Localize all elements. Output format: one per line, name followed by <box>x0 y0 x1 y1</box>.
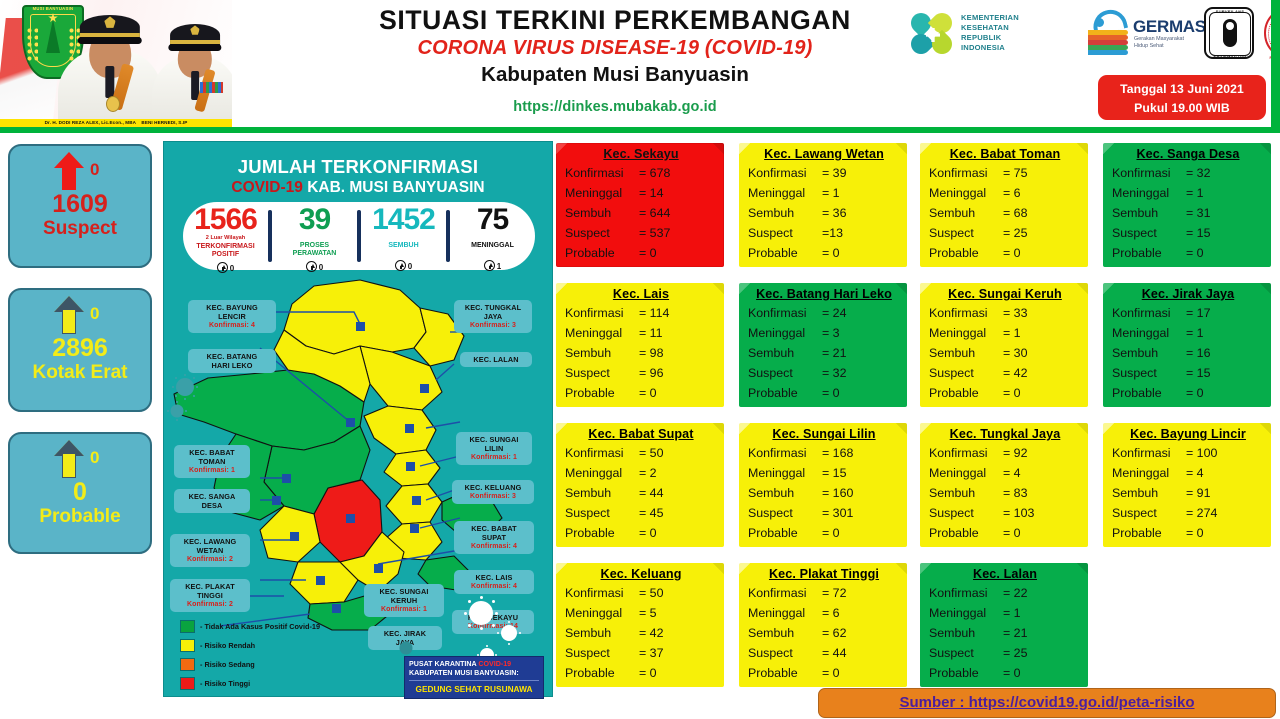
suspect-label: Suspect <box>10 218 150 240</box>
district-stat-row: Konfirmasi= 50 <box>565 443 717 463</box>
stat-value-sembuh: = 98 <box>639 343 663 363</box>
stat-label-konfirmasi: Konfirmasi <box>1112 443 1186 463</box>
stat-value-meninggal: = 3 <box>822 323 840 343</box>
summary-stats-strip: 1566 2 Luar Wilayah TERKONFIRMASI POSITI… <box>183 202 535 270</box>
stat-value-meninggal: = 5 <box>639 603 657 623</box>
region-sungai-lilin[interactable] <box>364 406 436 454</box>
surveilans-top-text: SURVEILANS <box>1204 9 1256 14</box>
district-stat-row: Sembuh= 21 <box>929 623 1081 643</box>
district-stat-row: Meninggal= 1 <box>1112 183 1264 203</box>
stat-value-meninggal: = 1 <box>1003 323 1021 343</box>
district-stat-row: Probable= 0 <box>748 243 900 263</box>
stat-value-meninggal: = 4 <box>1186 463 1204 483</box>
date-line-1: Tanggal 13 Juni 2021 <box>1098 80 1266 99</box>
stat-label-suspect: Suspect <box>1112 503 1186 523</box>
stat-label-suspect: Suspect <box>748 363 822 383</box>
district-stat-row: Probable= 0 <box>1112 523 1264 543</box>
stat-value-suspect: = 96 <box>639 363 663 383</box>
stat-value-konfirmasi: = 168 <box>822 443 853 463</box>
map-label-sungai-lilin[interactable]: KEC. SUNGAILILIN Konfirmasi: 1 <box>456 432 532 465</box>
stat-value-sembuh: = 16 <box>1186 343 1210 363</box>
stat-label-sembuh: Sembuh <box>565 483 639 503</box>
probable-delta: 0 <box>90 448 99 468</box>
district-stat-row: Probable= 0 <box>929 243 1081 263</box>
district-stat-row: Konfirmasi= 92 <box>929 443 1081 463</box>
virus-icon <box>166 400 188 422</box>
map-label-tungkal-jaya[interactable]: KEC. TUNGKALJAYA Konfirmasi: 3 <box>454 300 532 333</box>
stat-label-probable: Probable <box>1112 383 1186 403</box>
legend-item: - Risiko Rendah <box>180 638 390 653</box>
terkonfirmasi-label-2: POSITIF <box>183 251 268 259</box>
stat-label-suspect: Suspect <box>929 363 1003 383</box>
map-label-sanga-desa[interactable]: KEC. SANGADESA <box>174 489 250 513</box>
stat-label-meninggal: Meninggal <box>748 603 822 623</box>
sembuh-label: SEMBUH <box>361 242 446 250</box>
stat-value-meninggal: = 11 <box>639 323 663 343</box>
map-label-plakat-tinggi[interactable]: KEC. PLAKATTINGGI Konfirmasi: 2 <box>170 579 250 612</box>
district-stat-row: Suspect= 44 <box>748 643 900 663</box>
district-stat-row: Sembuh= 16 <box>1112 343 1264 363</box>
district-stat-row: Probable= 0 <box>565 523 717 543</box>
officials-photo: MUSI BANYUASIN <box>0 0 232 133</box>
stat-label-sembuh: Sembuh <box>748 623 822 643</box>
germas-tagline-2: Hidup Sehat <box>1134 43 1184 50</box>
district-stat-row: Konfirmasi= 75 <box>929 163 1081 183</box>
district-card-kec-tungkal-jaya[interactable]: Kec. Tungkal JayaKonfirmasi= 92Meninggal… <box>920 423 1088 547</box>
stat-value-konfirmasi: = 17 <box>1186 303 1210 323</box>
stat-card-suspect: 0 1609 Suspect <box>8 144 152 268</box>
stat-value-sembuh: = 83 <box>1003 483 1027 503</box>
district-card-kec-sekayu[interactable]: Kec. SekayuKonfirmasi= 678Meninggal= 14S… <box>556 143 724 267</box>
stat-label-meninggal: Meninggal <box>1112 183 1186 203</box>
stat-label-sembuh: Sembuh <box>748 343 822 363</box>
stat-value-suspect: = 274 <box>1186 503 1217 523</box>
stat-label-suspect: Suspect <box>748 223 822 243</box>
stat-label-konfirmasi: Konfirmasi <box>565 443 639 463</box>
stat-label-suspect: Suspect <box>929 643 1003 663</box>
district-stat-row: Probable= 0 <box>1112 383 1264 403</box>
infographic-root: MUSI BANYUASIN <box>0 0 1280 719</box>
stat-value-suspect: = 15 <box>1186 223 1210 243</box>
stat-value-suspect: = 25 <box>1003 643 1027 663</box>
district-card-kec-plakat-tinggi[interactable]: Kec. Plakat TinggiKonfirmasi= 72Meningga… <box>739 563 907 687</box>
stat-label-konfirmasi: Konfirmasi <box>929 163 1003 183</box>
stat-label-meninggal: Meninggal <box>748 323 822 343</box>
meninggal-label: MENINGGAL <box>450 242 535 250</box>
arrow-up-icon <box>54 440 84 478</box>
stat-value-meninggal: = 1 <box>1003 603 1021 623</box>
stat-value-probable: = 0 <box>639 383 657 403</box>
stat-value-konfirmasi: = 39 <box>822 163 846 183</box>
stat-label-suspect: Suspect <box>748 643 822 663</box>
stat-label-probable: Probable <box>1112 523 1186 543</box>
map-panel-title: JUMLAH TERKONFIRMASI COVID-19 KAB. MUSI … <box>164 156 552 197</box>
district-stat-row: Sembuh= 21 <box>748 343 900 363</box>
stat-label-suspect: Suspect <box>565 503 639 523</box>
stat-value-sembuh: = 62 <box>822 623 846 643</box>
district-stat-row: Konfirmasi= 22 <box>929 583 1081 603</box>
stat-label-probable: Probable <box>748 523 822 543</box>
district-stat-row: Sembuh= 30 <box>929 343 1081 363</box>
official1-name: Dr. H. DODI REZA ALEX, Lic.Econ., MBA <box>45 120 136 125</box>
stat-label-probable: Probable <box>565 523 639 543</box>
perawatan-label-2: PERAWATAN <box>272 250 357 258</box>
stat-value-suspect: =13 <box>822 223 843 243</box>
stat-label-meninggal: Meninggal <box>565 323 639 343</box>
stat-label-probable: Probable <box>929 383 1003 403</box>
stat-label-probable: Probable <box>929 523 1003 543</box>
map-title-line-1: JUMLAH TERKONFIRMASI <box>164 156 552 178</box>
stat-label-suspect: Suspect <box>1112 223 1186 243</box>
legend-item: - Risiko Sedang <box>180 657 390 672</box>
district-stat-row: Probable= 0 <box>929 383 1081 403</box>
stat-label-probable: Probable <box>565 383 639 403</box>
title-line-1: SITUASI TERKINI PERKEMBANGAN <box>300 6 930 35</box>
district-card-kec-lais[interactable]: Kec. LaisKonfirmasi= 114Meninggal= 11Sem… <box>556 283 724 407</box>
stat-proses-perawatan: 39 PROSES PERAWATAN 0 <box>272 202 357 270</box>
stat-label-konfirmasi: Konfirmasi <box>565 163 639 183</box>
stat-label-konfirmasi: Konfirmasi <box>565 583 639 603</box>
map-label-batang-hari-leko[interactable]: KEC. BATANGHARI LEKO <box>188 349 276 373</box>
district-stat-row: Sembuh= 160 <box>748 483 900 503</box>
terkonfirmasi-number: 1566 <box>183 205 268 235</box>
stat-label-suspect: Suspect <box>565 363 639 383</box>
stat-value-konfirmasi: = 32 <box>1186 163 1210 183</box>
stat-label-sembuh: Sembuh <box>1112 483 1186 503</box>
title-line-3: Kabupaten Musi Banyuasin <box>300 63 930 87</box>
karantina-line1-a: PUSAT KARANTINA <box>409 660 478 668</box>
district-stat-row: Suspect=13 <box>748 223 900 243</box>
district-stat-row: Suspect= 537 <box>565 223 717 243</box>
map-label-babat-supat[interactable]: KEC. BABATSUPAT Konfirmasi: 4 <box>454 521 534 554</box>
stat-label-sembuh: Sembuh <box>1112 203 1186 223</box>
district-stat-row: Konfirmasi= 24 <box>748 303 900 323</box>
stat-value-suspect: = 537 <box>639 223 670 243</box>
stat-label-sembuh: Sembuh <box>565 623 639 643</box>
terkonfirmasi-increment: 0 <box>183 262 268 273</box>
stat-label-sembuh: Sembuh <box>565 343 639 363</box>
map-panel: JUMLAH TERKONFIRMASI COVID-19 KAB. MUSI … <box>163 141 553 697</box>
stat-value-konfirmasi: = 678 <box>639 163 670 183</box>
logo-strip: KEMENTERIAN KESEHATAN REPUBLIK INDONESIA… <box>908 4 1272 66</box>
stat-label-meninggal: Meninggal <box>929 323 1003 343</box>
stat-value-meninggal: = 14 <box>639 183 663 203</box>
district-stat-row: Konfirmasi= 32 <box>1112 163 1264 183</box>
terkonfirmasi-label-1: TERKONFIRMASI <box>183 243 268 251</box>
stat-label-probable: Probable <box>929 243 1003 263</box>
stat-value-sembuh: = 31 <box>1186 203 1210 223</box>
district-stat-row: Konfirmasi= 33 <box>929 303 1081 323</box>
kemenkes-logo-icon: KEMENTERIAN KESEHATAN REPUBLIK INDONESIA <box>908 8 1076 60</box>
map-title-covid: COVID-19 <box>231 179 303 196</box>
district-stat-row: Suspect= 103 <box>929 503 1081 523</box>
district-stat-row: Suspect= 15 <box>1112 363 1264 383</box>
district-stat-row: Probable= 0 <box>929 663 1081 683</box>
surveilans-bottom-text: EPIDEMIOLOGI <box>1204 54 1256 59</box>
district-stat-row: Probable= 0 <box>565 243 717 263</box>
district-stat-row: Sembuh= 31 <box>1112 203 1264 223</box>
map-label-lalan[interactable]: KEC. LALAN <box>460 352 532 367</box>
district-name: Kec. Sungai Lilin <box>748 427 900 441</box>
probable-value: 0 <box>10 480 150 506</box>
district-stat-row: Meninggal= 1 <box>929 603 1081 623</box>
kemenkes-line-4: INDONESIA <box>961 43 1019 53</box>
district-name: Kec. Babat Toman <box>929 147 1081 161</box>
district-card-kec-jirak-jaya[interactable]: Kec. Jirak JayaKonfirmasi= 17Meninggal= … <box>1103 283 1271 407</box>
stat-value-meninggal: = 15 <box>822 463 846 483</box>
virus-icon <box>462 594 500 632</box>
district-stat-row: Sembuh= 98 <box>565 343 717 363</box>
map-label-babat-toman[interactable]: KEC. BABATTOMAN Konfirmasi: 1 <box>174 445 250 478</box>
stat-label-suspect: Suspect <box>565 223 639 243</box>
district-stat-row: Sembuh= 44 <box>565 483 717 503</box>
district-stat-row: Meninggal= 5 <box>565 603 717 623</box>
district-stat-row: Probable= 0 <box>565 383 717 403</box>
meninggal-increment: 1 <box>450 260 535 271</box>
kontak-erat-label: Kotak Erat <box>10 362 150 384</box>
district-stat-row: Konfirmasi= 50 <box>565 583 717 603</box>
stat-value-meninggal: = 4 <box>1003 463 1021 483</box>
district-stat-row: Suspect= 25 <box>929 643 1081 663</box>
stat-value-sembuh: = 42 <box>639 623 663 643</box>
map-label-lais[interactable]: KEC. LAIS Konfirmasi: 4 <box>454 570 534 594</box>
stat-value-suspect: = 45 <box>639 503 663 523</box>
stat-value-probable: = 0 <box>639 243 657 263</box>
official2-name: BENI HERNEDI, S.IP <box>141 120 187 125</box>
district-stat-row: Suspect= 301 <box>748 503 900 523</box>
district-stat-row: Meninggal= 15 <box>748 463 900 483</box>
stat-value-suspect: = 15 <box>1186 363 1210 383</box>
stat-value-konfirmasi: = 24 <box>822 303 846 323</box>
stat-label-sembuh: Sembuh <box>929 203 1003 223</box>
district-cards-grid: Kec. SekayuKonfirmasi= 678Meninggal= 14S… <box>556 143 1274 693</box>
stat-value-probable: = 0 <box>822 243 840 263</box>
stat-value-sembuh: = 36 <box>822 203 846 223</box>
stat-label-konfirmasi: Konfirmasi <box>748 163 822 183</box>
stat-label-konfirmasi: Konfirmasi <box>748 303 822 323</box>
stat-label-probable: Probable <box>929 663 1003 683</box>
stat-value-meninggal: = 6 <box>822 603 840 623</box>
stat-value-konfirmasi: = 114 <box>639 303 669 323</box>
map-label-keluang[interactable]: KEC. KELUANG Konfirmasi: 3 <box>452 480 534 504</box>
stat-value-suspect: = 301 <box>822 503 853 523</box>
kontak-erat-delta: 0 <box>90 304 99 324</box>
district-card-kec-batang-hari-leko[interactable]: Kec. Batang Hari LekoKonfirmasi= 24Menin… <box>739 283 907 407</box>
suspect-delta: 0 <box>90 160 99 180</box>
stat-value-probable: = 0 <box>1186 243 1204 263</box>
district-stat-row: Sembuh= 36 <box>748 203 900 223</box>
district-card-kec-babat-toman[interactable]: Kec. Babat TomanKonfirmasi= 75Meninggal=… <box>920 143 1088 267</box>
stat-value-konfirmasi: = 100 <box>1186 443 1217 463</box>
stat-label-meninggal: Meninggal <box>1112 323 1186 343</box>
legend-swatch-yellow <box>180 639 195 652</box>
district-stat-row: Konfirmasi= 168 <box>748 443 900 463</box>
district-card-kec-sanga-desa[interactable]: Kec. Sanga DesaKonfirmasi= 32Meninggal= … <box>1103 143 1271 267</box>
district-stat-row: Suspect= 25 <box>929 223 1081 243</box>
stat-value-konfirmasi: = 75 <box>1003 163 1027 183</box>
district-stat-row: Sembuh= 68 <box>929 203 1081 223</box>
virus-icon <box>496 620 522 646</box>
stat-value-konfirmasi: = 72 <box>822 583 846 603</box>
stat-value-konfirmasi: = 33 <box>1003 303 1027 323</box>
legend-label-0: - Tidak Ada Kasus Positif Covid-19 <box>200 622 320 631</box>
map-label-sungai-keruh[interactable]: KEC. SUNGAIKERUH Konfirmasi: 1 <box>364 584 444 617</box>
stat-meninggal: 75 MENINGGAL 1 <box>450 202 535 270</box>
district-stat-row: Probable= 0 <box>748 663 900 683</box>
stat-value-probable: = 0 <box>1003 523 1021 543</box>
district-stat-row: Meninggal= 6 <box>929 183 1081 203</box>
karantina-line1-b: COVID-19 <box>478 660 511 668</box>
stat-label-suspect: Suspect <box>1112 363 1186 383</box>
source-link[interactable]: Sumber : https://covid19.go.id/peta-risi… <box>899 694 1194 711</box>
district-name: Kec. Bayung Lincir <box>1112 427 1264 441</box>
district-stat-row: Suspect= 45 <box>565 503 717 523</box>
arrow-up-icon <box>54 296 84 334</box>
district-name: Kec. Batang Hari Leko <box>748 287 900 301</box>
kemenkes-line-2: KESEHATAN <box>961 23 1019 33</box>
district-stat-row: Konfirmasi= 100 <box>1112 443 1264 463</box>
district-stat-row: Meninggal= 3 <box>748 323 900 343</box>
district-card-kec-keluang[interactable]: Kec. KeluangKonfirmasi= 50Meninggal= 5Se… <box>556 563 724 687</box>
sembuh-increment: 0 <box>361 260 446 271</box>
district-card-kec-lawang-wetan[interactable]: Kec. Lawang WetanKonfirmasi= 39Meninggal… <box>739 143 907 267</box>
district-stat-row: Meninggal= 14 <box>565 183 717 203</box>
stat-value-suspect: = 32 <box>822 363 846 383</box>
district-stat-row: Meninggal= 4 <box>929 463 1081 483</box>
district-stat-row: Suspect= 96 <box>565 363 717 383</box>
stat-label-probable: Probable <box>748 243 822 263</box>
district-name: Kec. Lalan <box>929 567 1081 581</box>
stat-label-konfirmasi: Konfirmasi <box>929 583 1003 603</box>
stat-value-probable: = 0 <box>1186 383 1204 403</box>
probable-label: Probable <box>10 506 150 528</box>
district-stat-row: Suspect= 37 <box>565 643 717 663</box>
arrow-up-circle-icon <box>484 260 495 271</box>
district-stat-row: Probable= 0 <box>565 663 717 683</box>
stat-label-probable: Probable <box>565 243 639 263</box>
header: MUSI BANYUASIN <box>0 0 1280 133</box>
legend-item: - Risiko Tinggi <box>180 676 390 691</box>
stat-value-probable: = 0 <box>1003 663 1021 683</box>
stat-label-meninggal: Meninggal <box>748 463 822 483</box>
sembuh-number: 1452 <box>361 205 446 235</box>
district-stat-row: Meninggal= 6 <box>748 603 900 623</box>
stat-label-probable: Probable <box>1112 243 1186 263</box>
germas-wordmark: GERMAS <box>1133 17 1206 37</box>
stat-label-suspect: Suspect <box>565 643 639 663</box>
perawatan-number: 39 <box>272 205 357 235</box>
arrow-up-circle-icon <box>306 261 317 272</box>
stat-value-sembuh: = 91 <box>1186 483 1210 503</box>
page-title: SITUASI TERKINI PERKEMBANGAN CORONA VIRU… <box>300 6 930 115</box>
stat-card-kontak-erat: 0 2896 Kotak Erat <box>8 288 152 412</box>
district-stat-row: Meninggal= 4 <box>1112 463 1264 483</box>
district-stat-row: Sembuh= 42 <box>565 623 717 643</box>
stat-value-suspect: = 44 <box>822 643 846 663</box>
legend-swatch-red <box>180 677 195 690</box>
date-badge: Tanggal 13 Juni 2021 Pukul 19.00 WIB <box>1098 75 1266 120</box>
stat-value-suspect: = 37 <box>639 643 663 663</box>
district-stat-row: Konfirmasi= 114 <box>565 303 717 323</box>
district-card-kec-lalan[interactable]: Kec. LalanKonfirmasi= 22Meninggal= 1Semb… <box>920 563 1088 687</box>
stat-label-sembuh: Sembuh <box>929 483 1003 503</box>
stat-value-probable: = 0 <box>822 383 840 403</box>
quarantine-center-box: PUSAT KARANTINA COVID-19 KABUPATEN MUSI … <box>404 656 544 699</box>
district-card-kec-sungai-keruh[interactable]: Kec. Sungai KeruhKonfirmasi= 33Meninggal… <box>920 283 1088 407</box>
stat-label-konfirmasi: Konfirmasi <box>929 443 1003 463</box>
stat-label-sembuh: Sembuh <box>929 623 1003 643</box>
website-link[interactable]: https://dinkes.mubakab.go.id <box>300 99 930 115</box>
germas-tagline-1: Gerakan Masyarakat <box>1134 36 1184 43</box>
virus-icon <box>170 372 200 402</box>
district-name: Kec. Sungai Keruh <box>929 287 1081 301</box>
district-name: Kec. Tungkal Jaya <box>929 427 1081 441</box>
perawatan-increment: 0 <box>272 261 357 272</box>
virus-icon <box>396 638 416 658</box>
stat-label-meninggal: Meninggal <box>1112 463 1186 483</box>
kontak-erat-value: 2896 <box>10 336 150 362</box>
stat-label-sembuh: Sembuh <box>748 203 822 223</box>
legend-label-1: - Risiko Rendah <box>200 641 255 650</box>
official-wakil-bupati-portrait <box>152 13 232 125</box>
stat-value-meninggal: = 1 <box>1186 183 1204 203</box>
stat-label-meninggal: Meninggal <box>929 603 1003 623</box>
stat-label-sembuh: Sembuh <box>929 343 1003 363</box>
kemenkes-line-1: KEMENTERIAN <box>961 13 1019 23</box>
karantina-venue: GEDUNG SEHAT RUSUNAWA <box>409 684 539 694</box>
karantina-line2: KABUPATEN MUSI BANYUASIN: <box>409 669 539 678</box>
stat-value-sembuh: = 30 <box>1003 343 1027 363</box>
district-stat-row: Meninggal= 1 <box>748 183 900 203</box>
district-card-kec-sungai-lilin[interactable]: Kec. Sungai LilinKonfirmasi= 168Meningga… <box>739 423 907 547</box>
source-footer: Sumber : https://covid19.go.id/peta-risi… <box>818 688 1276 718</box>
germas-logo-icon: GERMAS Gerakan Masyarakat Hidup Sehat <box>1086 10 1198 60</box>
stat-label-suspect: Suspect <box>748 503 822 523</box>
stat-label-meninggal: Meninggal <box>565 183 639 203</box>
region-bayung-lencir[interactable] <box>284 280 426 354</box>
stat-value-suspect: = 25 <box>1003 223 1027 243</box>
stat-value-sembuh: = 21 <box>822 343 846 363</box>
official-bupati-portrait <box>58 3 162 125</box>
district-name: Kec. Keluang <box>565 567 717 581</box>
district-stat-row: Suspect= 32 <box>748 363 900 383</box>
stat-value-probable: = 0 <box>639 523 657 543</box>
stat-value-probable: = 0 <box>639 663 657 683</box>
district-card-kec-babat-supat[interactable]: Kec. Babat SupatKonfirmasi= 50Meninggal=… <box>556 423 724 547</box>
district-name: Kec. Sanga Desa <box>1112 147 1264 161</box>
district-stat-row: Suspect= 274 <box>1112 503 1264 523</box>
arrow-up-icon <box>54 152 84 190</box>
stat-value-probable: = 0 <box>822 663 840 683</box>
stat-label-suspect: Suspect <box>929 223 1003 243</box>
district-stat-row: Suspect= 42 <box>929 363 1081 383</box>
legend-item: - Tidak Ada Kasus Positif Covid-19 <box>180 619 390 634</box>
stat-label-meninggal: Meninggal <box>929 183 1003 203</box>
stat-value-meninggal: = 1 <box>1186 323 1204 343</box>
district-stat-row: Probable= 0 <box>748 523 900 543</box>
stat-value-meninggal: = 1 <box>822 183 840 203</box>
legend-label-2: - Risiko Sedang <box>200 660 255 669</box>
stat-label-meninggal: Meninggal <box>565 603 639 623</box>
district-stat-row: Meninggal= 1 <box>1112 323 1264 343</box>
map-label-lawang-wetan[interactable]: KEC. LAWANGWETAN Konfirmasi: 2 <box>170 534 250 567</box>
suspect-value: 1609 <box>10 192 150 218</box>
district-stat-row: Suspect= 15 <box>1112 223 1264 243</box>
district-card-kec-bayung-lincir[interactable]: Kec. Bayung LincirKonfirmasi= 100Meningg… <box>1103 423 1271 547</box>
district-name: Kec. Lawang Wetan <box>748 147 900 161</box>
map-title-rest: KAB. MUSI BANYUASIN <box>303 179 485 196</box>
map-label-bayung-lencir[interactable]: KEC. BAYUNGLENCIR Konfirmasi: 4 <box>188 300 276 333</box>
